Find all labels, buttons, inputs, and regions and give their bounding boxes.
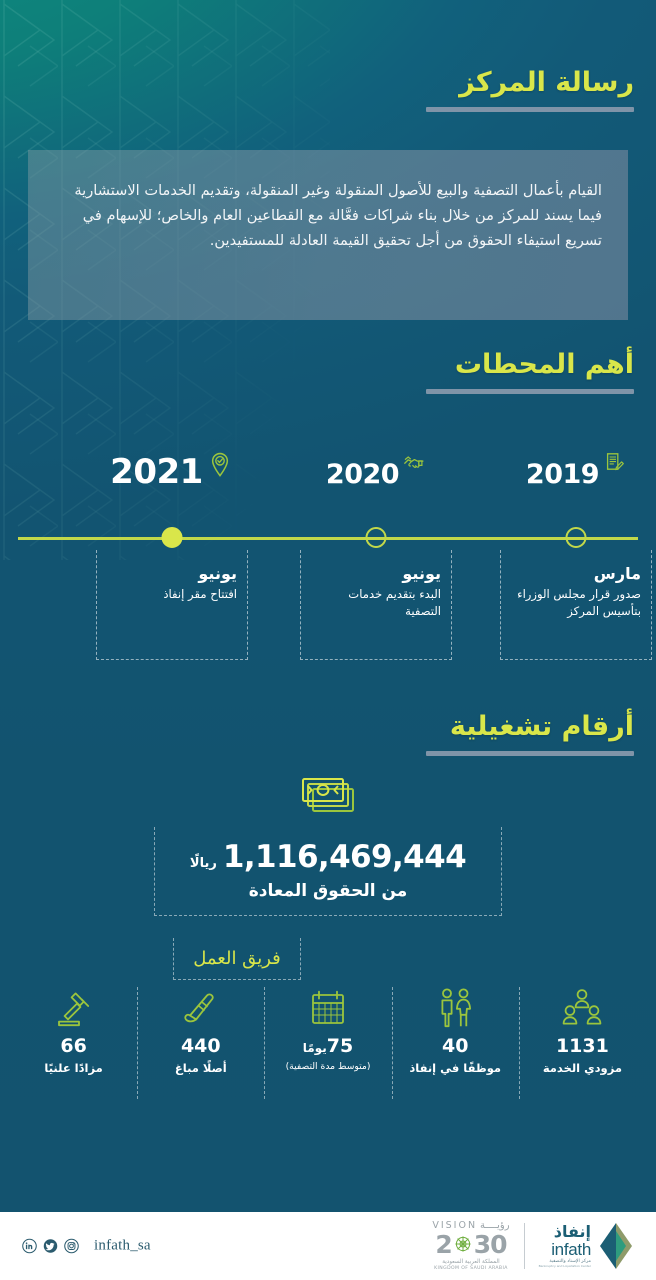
man-woman-icon bbox=[432, 987, 478, 1031]
milestones-heading: أهم المحطات bbox=[426, 350, 634, 394]
team-label-box: فريق العمل bbox=[173, 938, 301, 980]
timeline-desc-2019: صدور قرار مجلس الوزراء بتأسيس المركز bbox=[511, 586, 641, 620]
logo-divider bbox=[524, 1223, 525, 1269]
milestones-title-rule bbox=[426, 389, 634, 394]
mission-body-text: القيام بأعمال التصفية والبيع للأصول المن… bbox=[54, 178, 602, 253]
location-check-pin-icon bbox=[206, 451, 234, 479]
timeline-dot-2021 bbox=[162, 527, 183, 548]
operational-heading: أرقام تشغيلية bbox=[426, 712, 634, 756]
twitter-icon[interactable] bbox=[43, 1239, 58, 1254]
recovered-amount: 1,116,469,444 bbox=[223, 839, 466, 875]
stat-label-liquidation-days: (متوسط مدة التصفية) bbox=[286, 1061, 371, 1073]
timeline-desc-2021: افتتاح مقر إنفاذ bbox=[107, 586, 237, 603]
stat-unit-days: يومًا bbox=[303, 1041, 327, 1055]
stat-label-service-providers: مزودي الخدمة bbox=[543, 1061, 622, 1076]
operational-stats-row: 1131 مزودي الخدمة 40 موظفًا في إنفاذ 75ي… bbox=[10, 985, 646, 1105]
footer-logos: VISION رؤيــــة 2 30 bbox=[432, 1220, 638, 1272]
saudi-emblem-icon bbox=[452, 1233, 474, 1255]
stat-number-75: 75 bbox=[327, 1035, 353, 1057]
milestones-timeline: 2021 يونيو افتتاح مقر إنفاذ 2020 bbox=[0, 455, 656, 670]
timeline-card-2019: مارس صدور قرار مجلس الوزراء بتأسيس المرك… bbox=[500, 550, 652, 660]
timeline-month-2021: يونيو bbox=[107, 564, 237, 583]
stat-value-employees: 40 bbox=[442, 1037, 468, 1056]
operational-numbers-block: 1,116,469,444 ريالًا من الحقوق المعادة bbox=[0, 775, 656, 916]
timeline-year-2020: 2020 bbox=[326, 455, 399, 488]
timeline-item-2020: 2020 يونيو البدء بتقديم خدمات التصفية bbox=[300, 455, 452, 511]
infographic-page: رسالة المركز القيام بأعمال التصفية والبي… bbox=[0, 0, 656, 1280]
vision-2030-num-left: 2 bbox=[435, 1232, 451, 1257]
mission-heading: رسالة المركز bbox=[426, 68, 634, 112]
recovered-rights-card: 1,116,469,444 ريالًا من الحقوق المعادة bbox=[154, 827, 502, 916]
social-links[interactable]: infath_sa bbox=[22, 1238, 151, 1255]
timeline-month-2020: يونيو bbox=[311, 564, 441, 583]
timeline-card-2021: يونيو افتتاح مقر إنفاذ bbox=[96, 550, 248, 660]
social-handle[interactable]: infath_sa bbox=[94, 1238, 151, 1255]
infath-logo: إنفاذ infath مركز الإسناد والتصفية Bankr… bbox=[539, 1220, 638, 1272]
timeline-item-2019: 2019 مارس صدور قرار مجلس الوزراء بتأسيس … bbox=[500, 455, 652, 511]
operational-title-rule bbox=[426, 751, 634, 756]
people-group-icon bbox=[559, 987, 605, 1031]
vision-2030-kingdom-arabic: المملكة العربية السعودية bbox=[442, 1260, 499, 1266]
banknotes-icon bbox=[297, 775, 359, 819]
vision-2030-kingdom-latin: KINGDOM OF SAUDI ARABIA bbox=[434, 1267, 508, 1272]
document-pencil-icon bbox=[602, 451, 626, 475]
stat-label-employees: موظفًا في إنفاذ bbox=[409, 1061, 501, 1076]
recovered-currency: ريالًا bbox=[190, 856, 217, 871]
timeline-dot-2020 bbox=[366, 527, 387, 548]
infath-tagline-latin: Bankruptcy and Liquidation Center bbox=[539, 1265, 591, 1268]
stat-label-assets-sold: أصلًا مباغ bbox=[175, 1061, 227, 1076]
stat-assets-sold: 440 أصلًا مباغ bbox=[137, 985, 264, 1105]
stat-value-service-providers: 1131 bbox=[556, 1037, 609, 1056]
scroll-certificate-icon bbox=[178, 987, 224, 1031]
footer-bar: infath_sa VISION رؤيــــة 2 bbox=[0, 1212, 656, 1280]
stat-employees: 40 موظفًا في إنفاذ bbox=[392, 985, 519, 1105]
timeline-month-2019: مارس bbox=[511, 564, 641, 583]
gavel-icon bbox=[51, 987, 97, 1031]
timeline-axis-line bbox=[18, 537, 638, 540]
stat-liquidation-days: 75يومًا (متوسط مدة التصفية) bbox=[264, 985, 391, 1105]
milestones-title: أهم المحطات bbox=[426, 350, 634, 380]
vision-2030-num-right: 30 bbox=[474, 1232, 507, 1257]
handshake-icon bbox=[402, 451, 426, 475]
infath-mark-icon bbox=[596, 1220, 638, 1272]
vision-2030-logo: VISION رؤيــــة 2 30 bbox=[432, 1221, 509, 1271]
instagram-icon[interactable] bbox=[64, 1239, 79, 1254]
stat-service-providers: 1131 مزودي الخدمة bbox=[519, 985, 646, 1105]
timeline-dot-2019 bbox=[566, 527, 587, 548]
operational-title: أرقام تشغيلية bbox=[426, 712, 634, 742]
stat-public-auctions: 66 مزادًا علنيًا bbox=[10, 985, 137, 1105]
team-label: فريق العمل bbox=[193, 948, 281, 969]
infath-logo-arabic: إنفاذ bbox=[554, 1224, 591, 1240]
linkedin-icon[interactable] bbox=[22, 1239, 37, 1254]
mission-title-rule bbox=[426, 107, 634, 112]
timeline-card-2020: يونيو البدء بتقديم خدمات التصفية bbox=[300, 550, 452, 660]
stat-value-liquidation-days: 75يومًا bbox=[303, 1037, 353, 1056]
infath-logo-latin: infath bbox=[551, 1241, 591, 1258]
calendar-icon bbox=[305, 987, 351, 1031]
stat-value-public-auctions: 66 bbox=[60, 1037, 86, 1056]
timeline-desc-2020: البدء بتقديم خدمات التصفية bbox=[311, 586, 441, 620]
stat-value-assets-sold: 440 bbox=[181, 1037, 221, 1056]
recovered-caption: من الحقوق المعادة bbox=[165, 881, 491, 901]
timeline-year-2021: 2021 bbox=[110, 455, 203, 489]
stat-label-public-auctions: مزادًا علنيًا bbox=[44, 1061, 102, 1076]
mission-statement-box: القيام بأعمال التصفية والبيع للأصول المن… bbox=[28, 150, 628, 320]
timeline-item-2021: 2021 يونيو افتتاح مقر إنفاذ bbox=[96, 455, 248, 511]
timeline-year-2019: 2019 bbox=[526, 455, 599, 488]
mission-title: رسالة المركز bbox=[426, 68, 634, 98]
